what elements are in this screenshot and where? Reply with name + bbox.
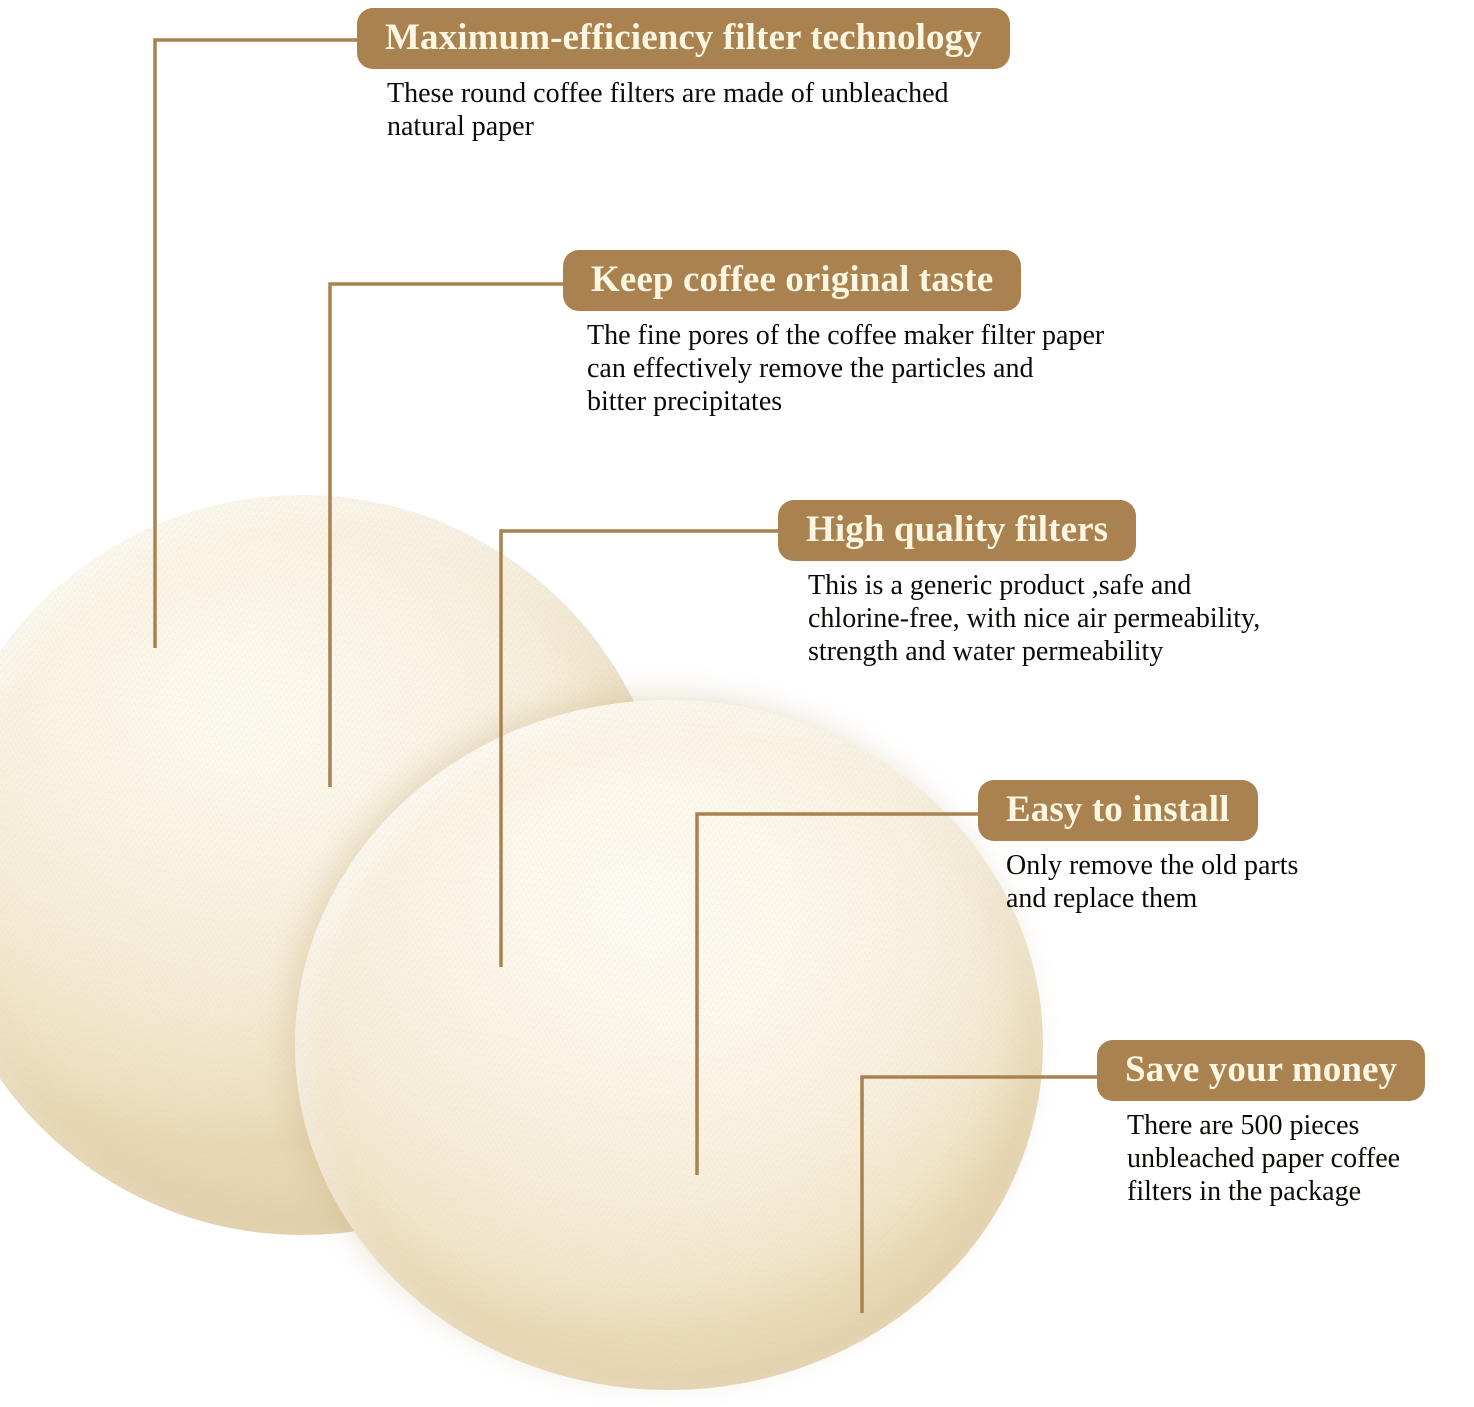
front-disc-fine-texture [295,700,1043,1390]
callout-maximum-efficiency-filter-technology: Maximum-efficiency filter technology The… [357,8,1010,144]
callout-title-badge: Easy to install [978,780,1258,841]
callout-save-your-money: Save your money There are 500 pieces unb… [1097,1040,1425,1209]
callout-body-text: This is a generic product ,safe and chlo… [808,570,1260,668]
callout-title-badge: Keep coffee original taste [563,250,1021,311]
callout-body-text: Only remove the old parts and replace th… [1006,850,1298,916]
callout-body-text: These round coffee filters are made of u… [387,78,1010,144]
front-filter-disc [295,700,1043,1390]
front-disc-texture [295,700,1043,1390]
callout-title-badge: Save your money [1097,1040,1425,1101]
callout-body-text: The fine pores of the coffee maker filte… [587,320,1104,418]
product-infographic: Maximum-efficiency filter technology The… [0,0,1474,1407]
callout-title-badge: Maximum-efficiency filter technology [357,8,1010,69]
callout-body-text: There are 500 pieces unbleached paper co… [1127,1110,1425,1208]
callout-title-badge: High quality filters [778,500,1136,561]
callout-easy-to-install: Easy to install Only remove the old part… [978,780,1298,916]
callout-keep-coffee-original-taste: Keep coffee original taste The fine pore… [563,250,1104,419]
callout-high-quality-filters: High quality filters This is a generic p… [778,500,1260,669]
